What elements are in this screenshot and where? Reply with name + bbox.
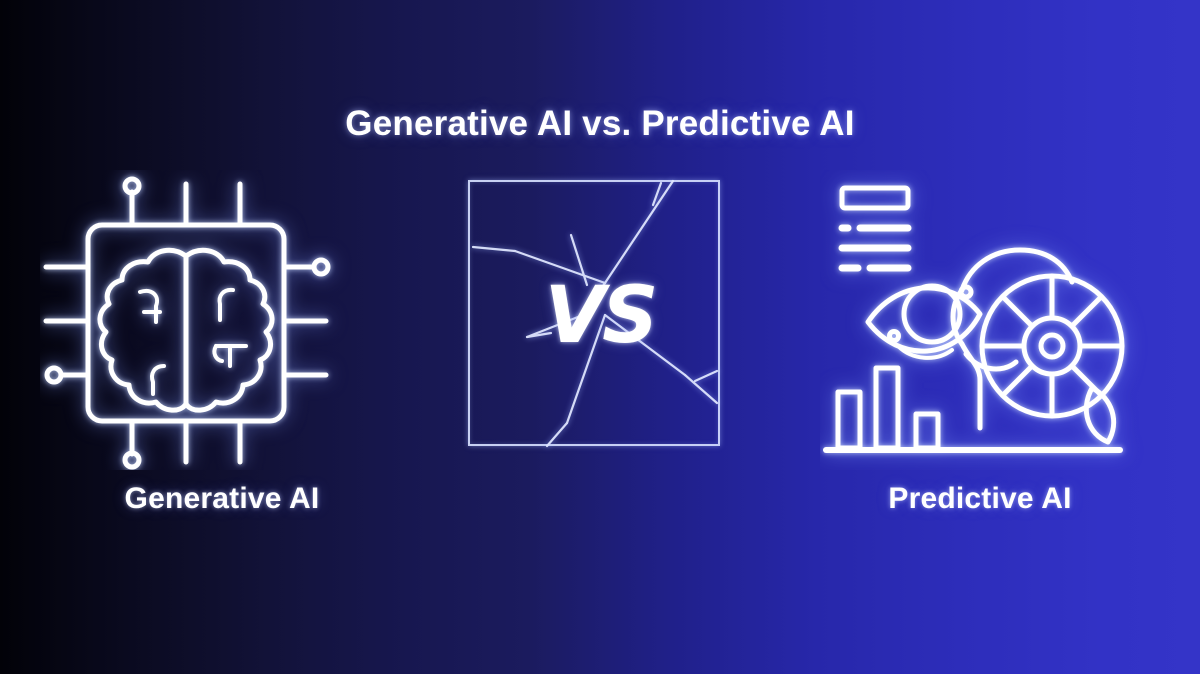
brain-chip-icon — [40, 170, 380, 470]
versus-divider: VS — [455, 165, 745, 465]
generative-ai-label: Generative AI — [52, 482, 392, 516]
predictive-ai-label: Predictive AI — [810, 482, 1150, 516]
comparison-graphic: Generative AI vs. Predictive AI — [0, 0, 1200, 674]
page-title: Generative AI vs. Predictive AI — [0, 104, 1200, 144]
versus-label: VS — [455, 277, 745, 355]
predictive-analytics-icon — [820, 170, 1160, 470]
generative-ai-panel — [40, 170, 380, 470]
predictive-ai-panel — [820, 170, 1160, 470]
